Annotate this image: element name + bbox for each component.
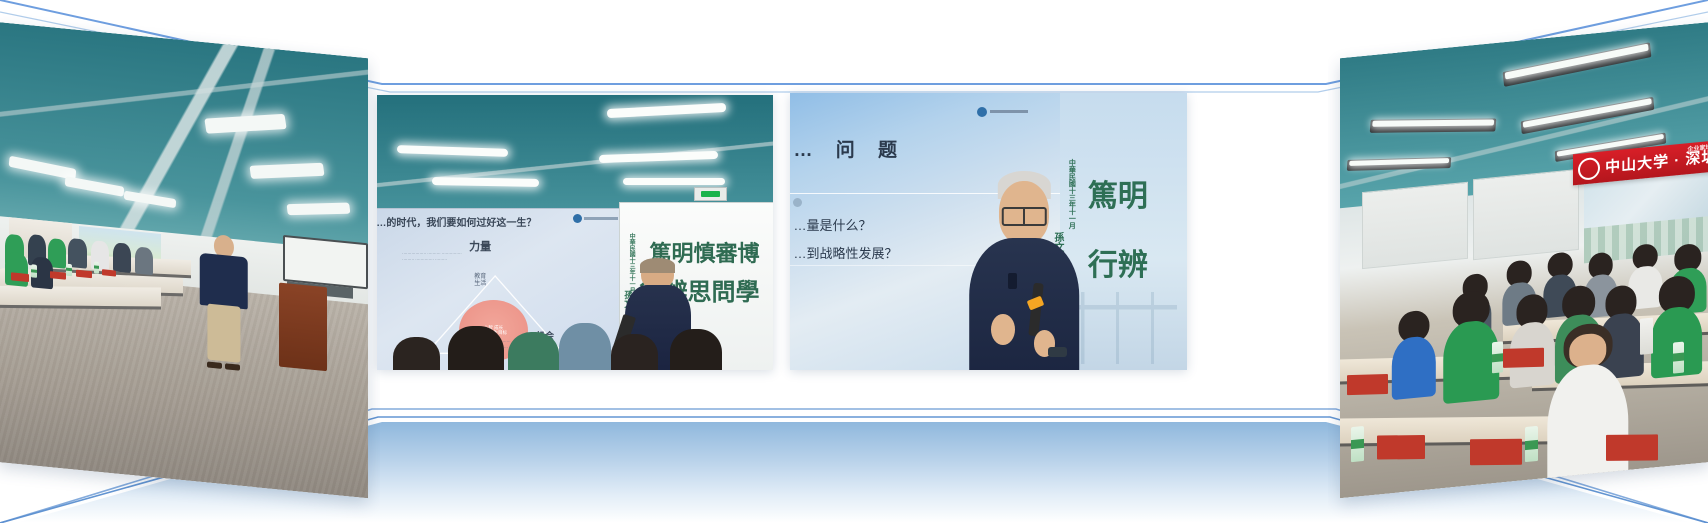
water-bottle (1492, 341, 1503, 373)
slide-line-2: …到战略性发展？ (793, 243, 897, 262)
gallery-slide-4[interactable]: 中山大学 · 深圳 企业家培训班 (1328, 0, 1708, 523)
gallery-slide-2[interactable]: …的时代，我们要如何过好这一生？ 力量 ·················· ·… (377, 95, 773, 370)
slide-2-photo: …的时代，我们要如何过好这一生？ 力量 ·················· ·… (377, 95, 773, 370)
exit-sign-icon (694, 187, 728, 201)
calligraphy-line-1: 篤明 (1088, 171, 1148, 215)
water-bottle (1525, 426, 1538, 462)
slide-3-photo: … 问 题 …量是什么？ …到战略性发展？ 篤明 行辨 中華民國十三年十一月 孫… (790, 93, 1187, 370)
water-bottle (1351, 426, 1364, 462)
nameplate (1347, 374, 1388, 395)
nameplate (1470, 439, 1522, 465)
nameplate (1606, 434, 1658, 461)
org-logo-icon (573, 214, 618, 223)
nameplate (1377, 435, 1425, 460)
gallery-slide-1[interactable] (0, 0, 380, 523)
water-bottle (1673, 341, 1684, 373)
slide-4-photo: 中山大学 · 深圳 企业家培训班 (1340, 22, 1708, 498)
speaker-figure (965, 171, 1084, 370)
slide-title: … 问 题 (793, 135, 906, 162)
attendee-green-polo (1444, 289, 1500, 400)
slide-1-photo (0, 22, 368, 498)
university-seal-icon (1578, 156, 1600, 180)
calligraphy-line-2: 行辨 (1088, 240, 1148, 284)
slide-line-1: …量是什么？ (793, 215, 871, 234)
banner-subtext: 企业家培训班 (1687, 140, 1708, 153)
nameplate (1503, 348, 1544, 369)
attendee-foreground (1547, 320, 1628, 495)
slide-headline: …的时代，我们要如何过好这一生？ (377, 214, 536, 229)
org-logo-icon (977, 107, 1028, 117)
gallery-stage: …的时代，我们要如何过好这一生？ 力量 ·················· ·… (0, 0, 1708, 523)
paper-cup (1640, 318, 1653, 354)
gallery-slide-3[interactable]: … 问 题 …量是什么？ …到战略性发展？ 篤明 行辨 中華民國十三年十一月 孫… (790, 93, 1187, 370)
